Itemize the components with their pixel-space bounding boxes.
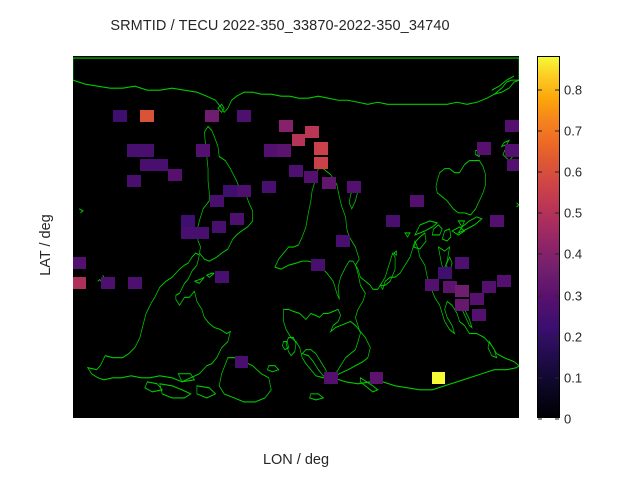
- heatmap-cell: [279, 120, 293, 132]
- heatmap-cell: [73, 277, 86, 289]
- colorbar-tick-label: 0.5: [564, 206, 582, 221]
- colorbar-tick-mark: [538, 419, 542, 420]
- heatmap-cell: [432, 372, 446, 384]
- heatmap-cell: [470, 293, 484, 305]
- heatmap-cell: [277, 144, 291, 156]
- heatmap-cell: [195, 227, 209, 239]
- colorbar-tick-mark: [538, 295, 542, 296]
- colorbar-tick-label: 0: [564, 412, 571, 427]
- heatmap-cell: [127, 144, 141, 156]
- heatmap-cell: [505, 120, 519, 132]
- colorbar-tick-label: 0.1: [564, 370, 582, 385]
- y-axis-label: LAT / deg: [38, 175, 54, 315]
- colorbar-tick-label: 0.4: [564, 247, 582, 262]
- heatmap-cell: [477, 142, 491, 154]
- heatmap-cell: [324, 372, 338, 384]
- colorbar-tick-mark: [538, 89, 542, 90]
- heatmap-cell: [438, 267, 452, 279]
- heatmap-cell: [410, 195, 424, 207]
- heatmap-cells-layer: [73, 56, 519, 418]
- map-heatmap-axes: -80-60-40-20020406080-150-100-5005010015…: [73, 56, 519, 418]
- heatmap-cell: [235, 356, 249, 368]
- heatmap-cell: [181, 227, 195, 239]
- colorbar-tick-mark: [555, 213, 559, 214]
- chart-figure: SRMTID / TECU 2022-350_33870-2022-350_34…: [0, 0, 640, 480]
- heatmap-cell: [140, 144, 154, 156]
- chart-title: SRMTID / TECU 2022-350_33870-2022-350_34…: [0, 18, 560, 34]
- heatmap-cell: [215, 271, 229, 283]
- heatmap-cell: [482, 281, 496, 293]
- colorbar-tick-mark: [538, 172, 542, 173]
- colorbar-tick-mark: [538, 131, 542, 132]
- heatmap-cell: [305, 126, 319, 138]
- heatmap-cell: [336, 235, 350, 247]
- heatmap-cell: [113, 110, 127, 122]
- colorbar-tick-mark: [538, 377, 542, 378]
- colorbar-tick-mark: [555, 377, 559, 378]
- heatmap-cell: [497, 275, 511, 287]
- heatmap-cell: [370, 372, 384, 384]
- heatmap-cell: [212, 221, 226, 233]
- heatmap-cell: [101, 277, 115, 289]
- colorbar-tick-mark: [538, 336, 542, 337]
- colorbar-tick-mark: [555, 172, 559, 173]
- colorbar: 00.10.20.30.40.50.60.70.8: [537, 56, 560, 418]
- heatmap-cell: [289, 165, 303, 177]
- colorbar-tick-label: 0.7: [564, 124, 582, 139]
- heatmap-cell: [181, 215, 195, 227]
- heatmap-cell: [455, 299, 469, 311]
- heatmap-cell: [140, 110, 154, 122]
- heatmap-cell: [230, 213, 244, 225]
- heatmap-cell: [425, 279, 439, 291]
- heatmap-cell: [210, 195, 224, 207]
- colorbar-tick-label: 0.3: [564, 288, 582, 303]
- heatmap-cell: [205, 110, 219, 122]
- heatmap-cell: [304, 171, 318, 183]
- colorbar-tick-mark: [538, 213, 542, 214]
- heatmap-cell: [322, 177, 336, 189]
- heatmap-cell: [455, 257, 469, 269]
- heatmap-cell: [154, 159, 168, 171]
- colorbar-tick-mark: [555, 131, 559, 132]
- heatmap-cell: [237, 110, 251, 122]
- heatmap-cell: [347, 181, 361, 193]
- colorbar-tick-mark: [555, 419, 559, 420]
- colorbar-tick-label: 0.2: [564, 329, 582, 344]
- heatmap-cell: [292, 134, 306, 146]
- colorbar-tick-label: 0.6: [564, 165, 582, 180]
- heatmap-cell: [262, 181, 276, 193]
- colorbar-tick-mark: [555, 89, 559, 90]
- heatmap-cell: [314, 157, 328, 169]
- colorbar-tick-mark: [555, 254, 559, 255]
- x-axis-label: LON / deg: [73, 452, 519, 468]
- heatmap-cell: [223, 185, 237, 197]
- colorbar-tick-mark: [538, 254, 542, 255]
- heatmap-cell: [314, 142, 328, 154]
- heatmap-cell: [472, 309, 486, 321]
- heatmap-cell: [386, 215, 400, 227]
- colorbar-tick-mark: [555, 336, 559, 337]
- heatmap-cell: [73, 257, 86, 269]
- heatmap-cell: [490, 215, 504, 227]
- heatmap-cell: [196, 144, 210, 156]
- heatmap-cell: [168, 169, 182, 181]
- heatmap-cell: [311, 259, 325, 271]
- heatmap-cell: [140, 159, 154, 171]
- heatmap-cell: [507, 159, 519, 171]
- colorbar-tick-mark: [555, 295, 559, 296]
- heatmap-cell: [128, 277, 142, 289]
- colorbar-tick-label: 0.8: [564, 82, 582, 97]
- heatmap-cell: [455, 285, 469, 297]
- heatmap-cell: [127, 175, 141, 187]
- heatmap-cell: [505, 144, 519, 156]
- heatmap-cell: [237, 185, 251, 197]
